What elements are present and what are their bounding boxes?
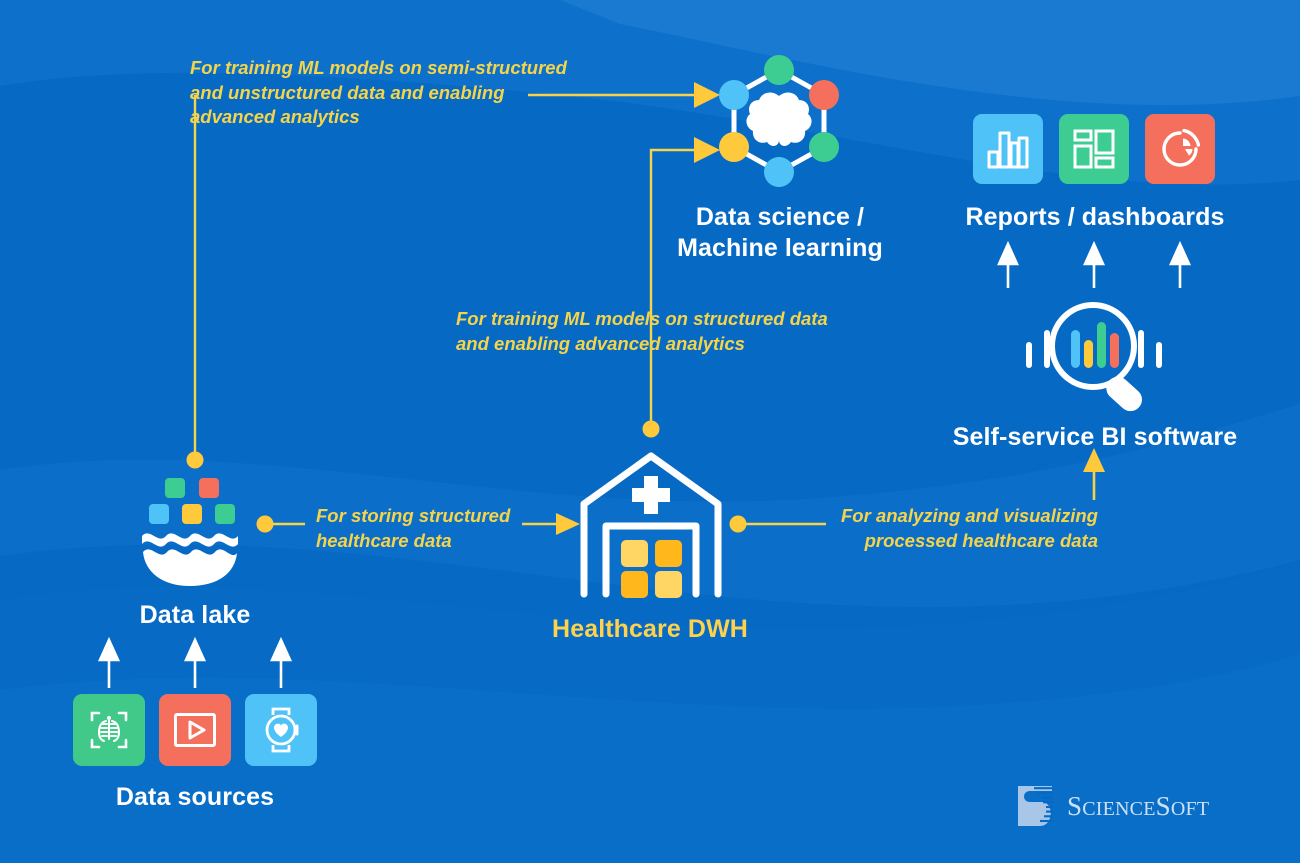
smartwatch-heart-icon bbox=[260, 707, 302, 753]
label-data-lake: Data lake bbox=[35, 600, 355, 631]
annotation-storing-structured: For storing structured healthcare data bbox=[316, 504, 526, 553]
sciencesoft-logo: SCIENCESOFT bbox=[1012, 782, 1209, 830]
reports-tile-donut[interactable] bbox=[1145, 114, 1215, 184]
reports-tile-dashboard[interactable] bbox=[1059, 114, 1129, 184]
data-source-tile-video[interactable] bbox=[159, 694, 231, 766]
brain-network-icon[interactable] bbox=[706, 48, 852, 194]
xray-scan-icon bbox=[88, 709, 130, 751]
magnifier-bars-icon[interactable] bbox=[1018, 300, 1170, 412]
diagram-canvas: For training ML models on semi-structure… bbox=[0, 0, 1300, 863]
bar-chart-icon bbox=[987, 129, 1029, 169]
data-source-tile-wearable[interactable] bbox=[245, 694, 317, 766]
data-source-tile-xray[interactable] bbox=[73, 694, 145, 766]
dashboard-grid-icon bbox=[1073, 129, 1115, 169]
annotation-analyzing-visualizing: For analyzing and visualizing processed … bbox=[826, 504, 1098, 553]
reports-tile-bar-chart[interactable] bbox=[973, 114, 1043, 184]
sciencesoft-wordmark: SCIENCESOFT bbox=[1067, 791, 1209, 822]
data-lake-icon[interactable] bbox=[136, 478, 254, 588]
label-data-sources: Data sources bbox=[35, 782, 355, 813]
sciencesoft-s-logo bbox=[1012, 782, 1058, 830]
annotation-ml-structured: For training ML models on structured dat… bbox=[456, 307, 876, 356]
label-reports-dashboards: Reports / dashboards bbox=[915, 202, 1275, 233]
video-player-icon bbox=[173, 711, 217, 749]
label-self-service-bi: Self-service BI software bbox=[900, 422, 1290, 453]
donut-chart-icon bbox=[1158, 127, 1202, 171]
label-data-science: Data science / Machine learning bbox=[610, 202, 950, 263]
warehouse-hospital-icon[interactable] bbox=[580, 450, 722, 598]
label-healthcare-dwh: Healthcare DWH bbox=[480, 614, 820, 645]
annotation-ml-unstructured: For training ML models on semi-structure… bbox=[190, 56, 590, 130]
